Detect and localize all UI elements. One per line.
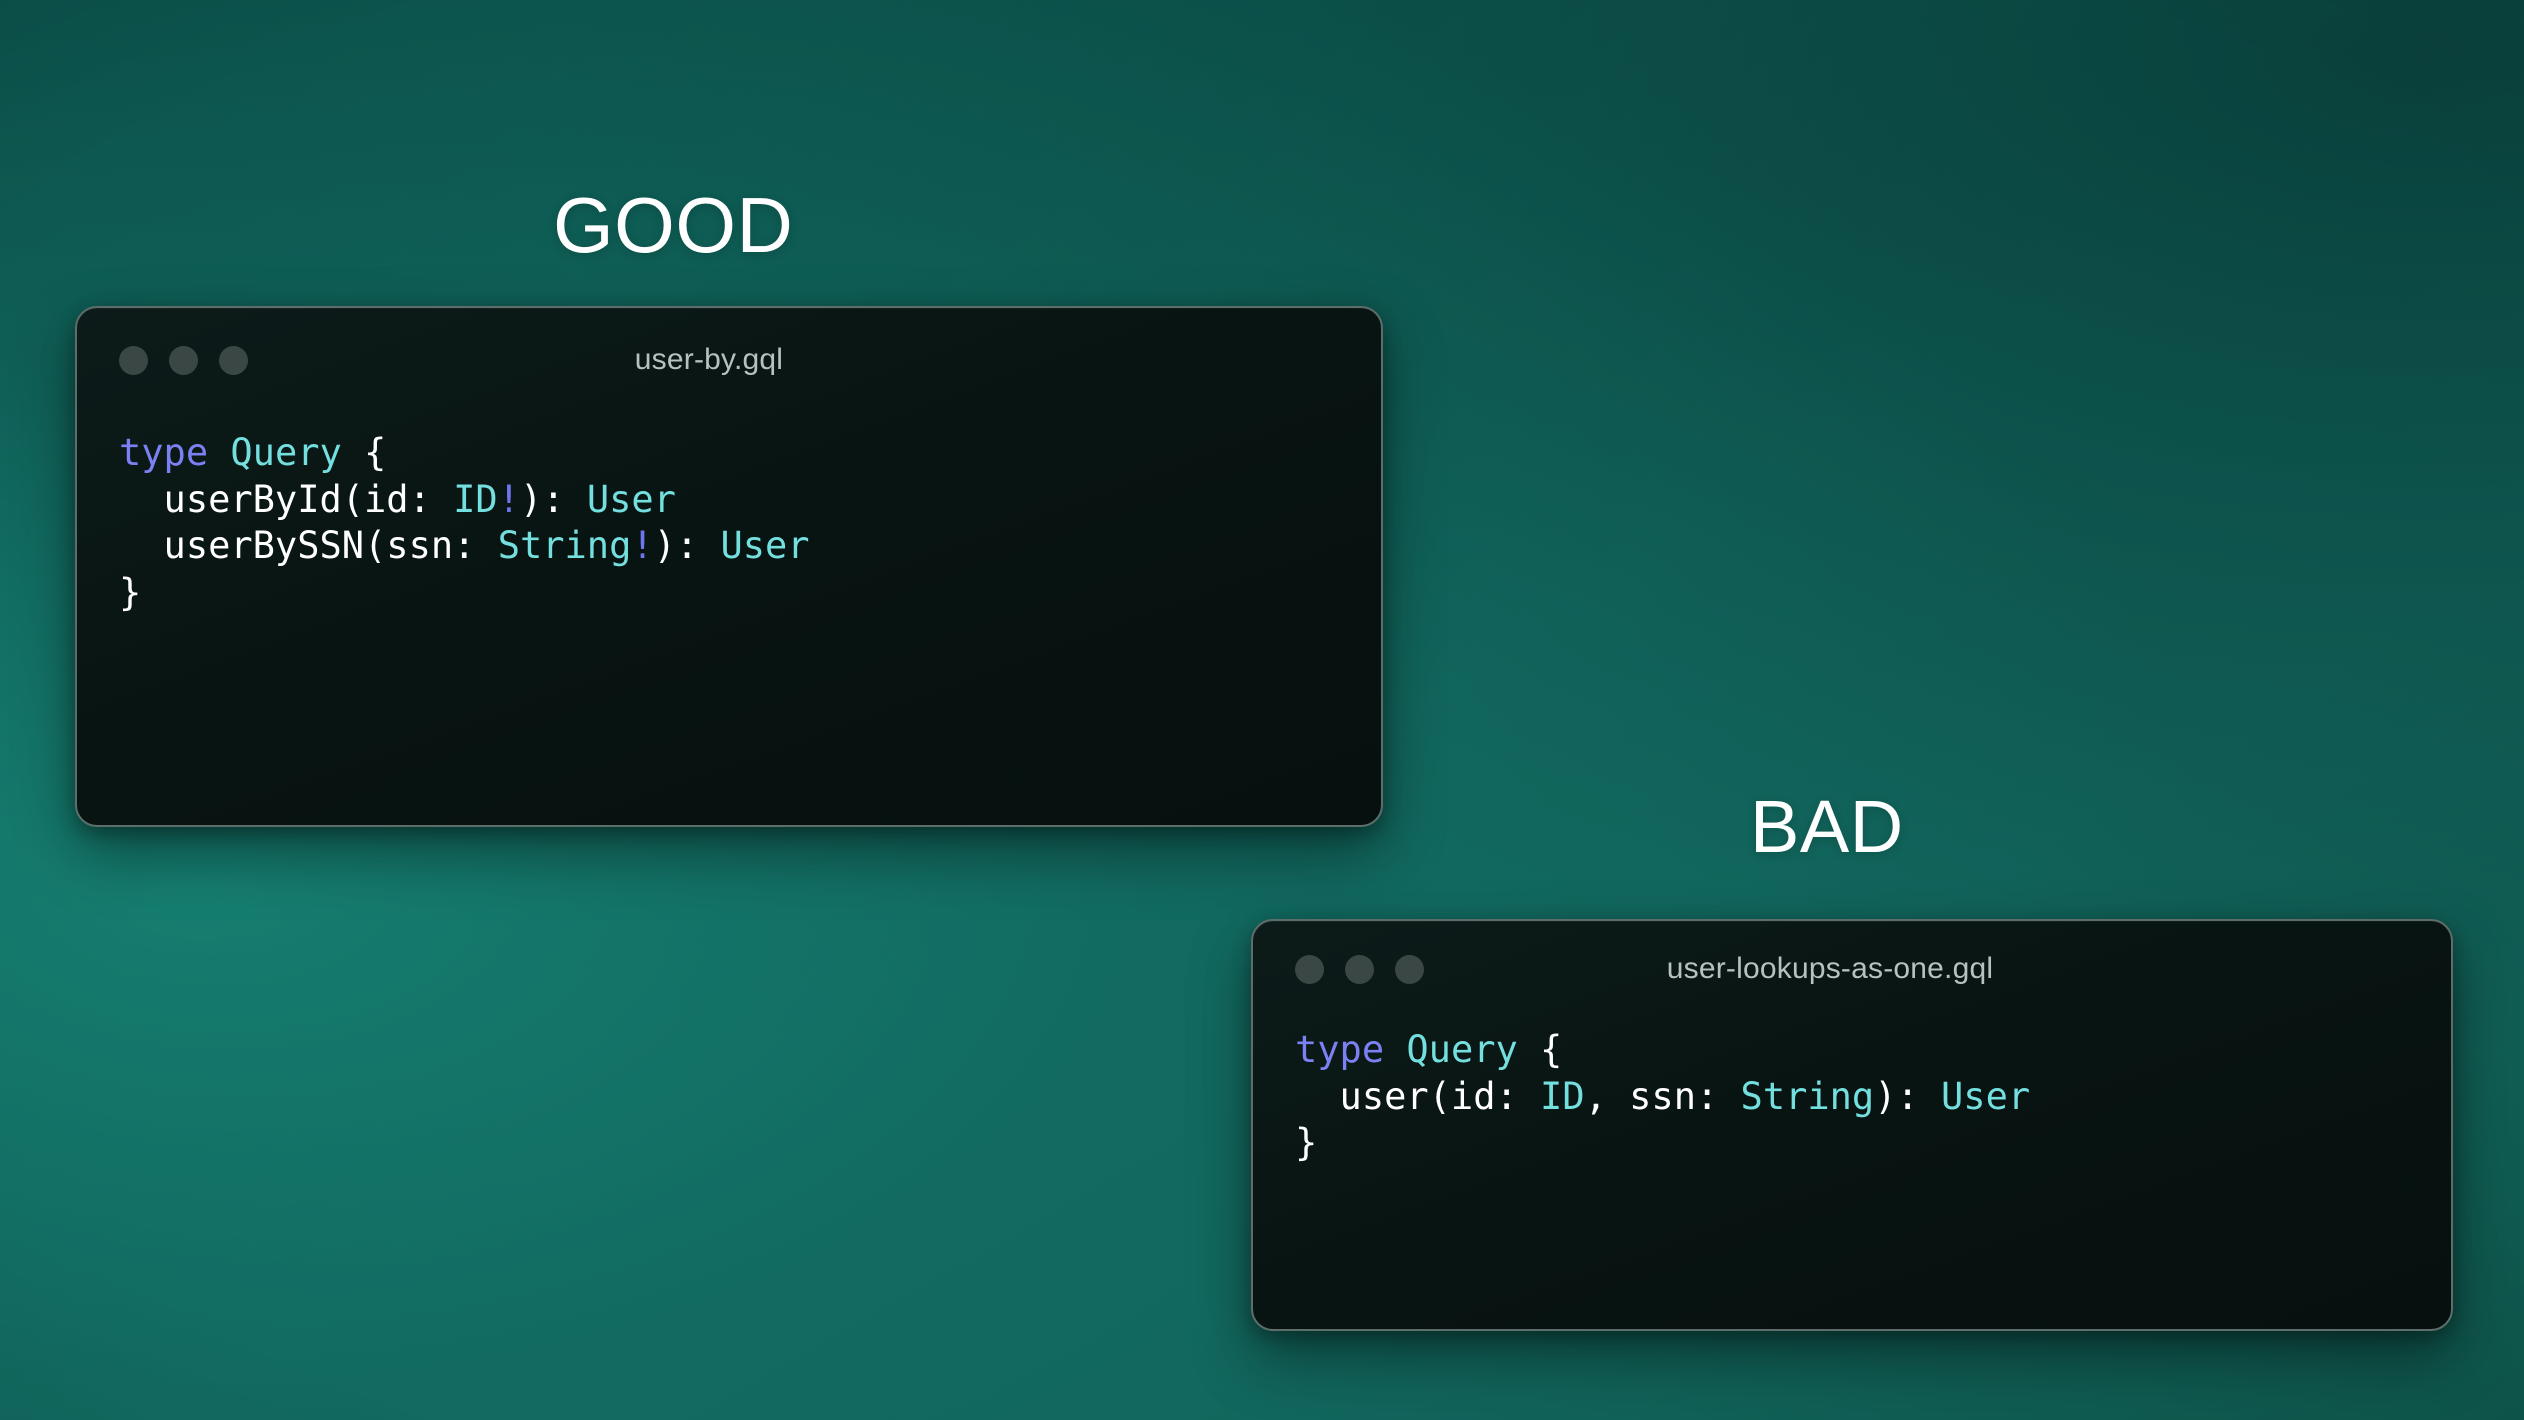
code-token-type: ID — [1540, 1075, 1585, 1118]
code-token-punct: ): — [654, 524, 721, 567]
section-label-good: GOOD — [553, 186, 793, 264]
code-token-name: user(id: — [1295, 1075, 1540, 1118]
code-content-bad: type Query { user(id: ID, ssn: String): … — [1253, 1017, 2451, 1167]
maximize-dot-icon[interactable] — [219, 346, 248, 375]
traffic-lights-group — [1253, 955, 1424, 984]
close-dot-icon[interactable] — [1295, 955, 1324, 984]
code-window-good: user-by.gql type Query { userById(id: ID… — [75, 306, 1383, 827]
code-token-type: String — [498, 524, 632, 567]
code-token-kw: type — [119, 431, 208, 474]
window-titlebar: user-by.gql — [77, 308, 1381, 412]
code-token-punct: } — [1295, 1121, 1317, 1164]
code-token-name: , ssn: — [1585, 1075, 1741, 1118]
code-token-punct: } — [119, 571, 141, 614]
code-line: userById(id: ID!): User — [77, 477, 1381, 524]
close-dot-icon[interactable] — [119, 346, 148, 375]
code-line: type Query { — [1253, 1027, 2451, 1074]
code-token-type: String — [1741, 1075, 1875, 1118]
maximize-dot-icon[interactable] — [1395, 955, 1424, 984]
code-token-type: User — [720, 524, 809, 567]
code-line: user(id: ID, ssn: String): User — [1253, 1074, 2451, 1121]
window-filename-bad: user-lookups-as-one.gql — [1251, 952, 2429, 986]
code-token-punct: ): — [1874, 1075, 1941, 1118]
code-token-type: Query — [230, 431, 341, 474]
code-token-type: Query — [1406, 1028, 1517, 1071]
code-line: type Query { — [77, 430, 1381, 477]
code-token-punct — [208, 431, 230, 474]
code-token-bang: ! — [498, 478, 520, 521]
code-line: } — [77, 570, 1381, 617]
code-token-type: User — [1941, 1075, 2030, 1118]
code-token-type: ID — [453, 478, 498, 521]
window-titlebar: user-lookups-as-one.gql — [1253, 921, 2451, 1017]
code-token-bang: ! — [631, 524, 653, 567]
code-token-type: User — [587, 478, 676, 521]
traffic-lights-group — [77, 346, 248, 375]
code-line: } — [1253, 1120, 2451, 1167]
code-token-kw: type — [1295, 1028, 1384, 1071]
code-token-punct: { — [1518, 1028, 1563, 1071]
section-label-bad: BAD — [1750, 790, 1904, 864]
code-token-punct: ): — [520, 478, 587, 521]
window-filename-good: user-by.gql — [75, 343, 1361, 377]
code-token-punct — [1384, 1028, 1406, 1071]
code-token-name: userBySSN(ssn: — [119, 524, 498, 567]
code-token-name: userById(id: — [119, 478, 453, 521]
minimize-dot-icon[interactable] — [1345, 955, 1374, 984]
code-token-punct: { — [342, 431, 387, 474]
minimize-dot-icon[interactable] — [169, 346, 198, 375]
code-content-good: type Query { userById(id: ID!): User use… — [77, 412, 1381, 616]
code-window-bad: user-lookups-as-one.gql type Query { use… — [1251, 919, 2453, 1331]
code-line: userBySSN(ssn: String!): User — [77, 523, 1381, 570]
